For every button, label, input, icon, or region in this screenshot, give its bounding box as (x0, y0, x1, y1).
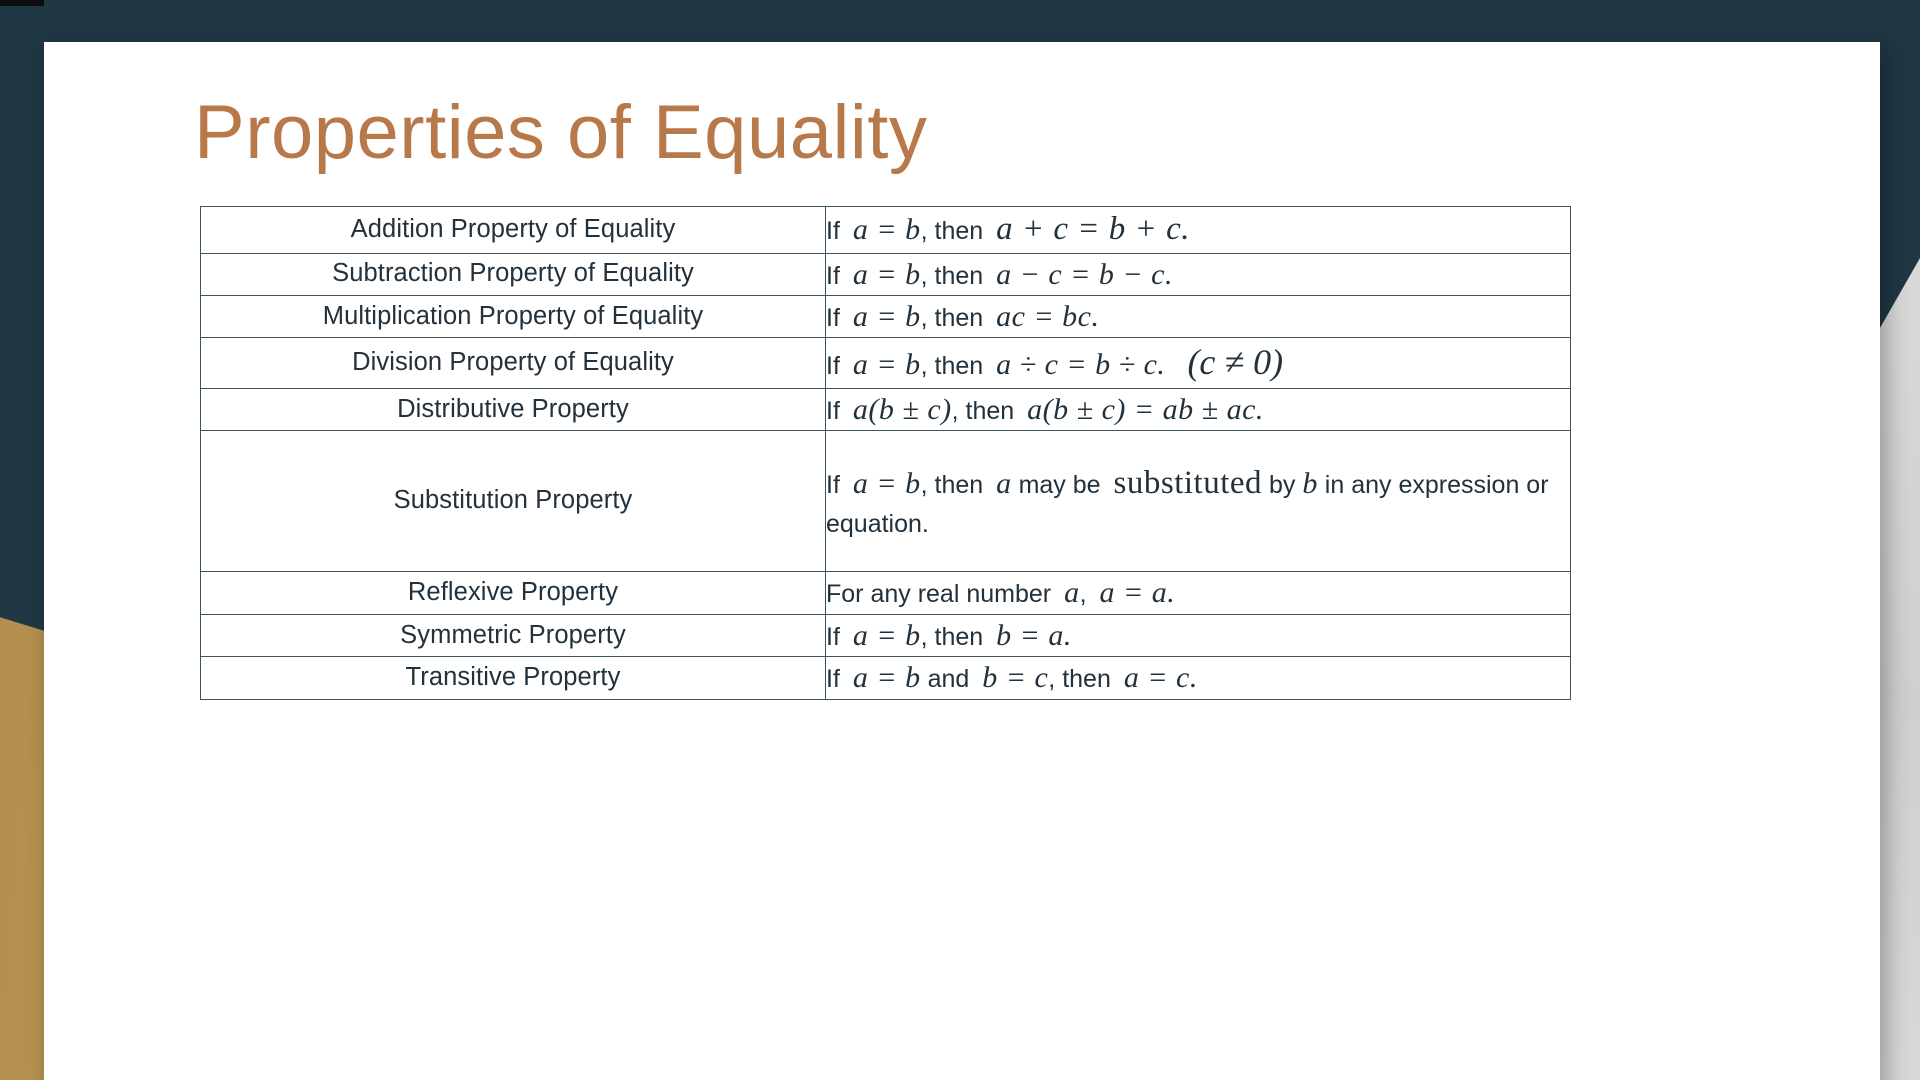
statement-condition-note: (c ≠ 0) (1187, 342, 1283, 382)
statement-result-math: a + c = b + c. (996, 211, 1190, 247)
statement-then-word: , then (921, 217, 984, 245)
statement-then-word: , then (921, 262, 984, 290)
statement-result-math: a − c = b − c. (996, 258, 1173, 291)
statement-if-word: If (826, 471, 840, 499)
statement-if-word: If (826, 304, 840, 332)
statement-result-math: a = a. (1099, 576, 1175, 609)
statement-condition-math: a = b (853, 300, 921, 333)
statement-then-word: , then (952, 397, 1015, 425)
statement-may-be-words: may be (1019, 471, 1101, 499)
statement-if-word: If (826, 262, 840, 290)
statement-result-math: a = c. (1124, 661, 1198, 694)
property-name-cell: Division Property of Equality (201, 338, 826, 389)
table-row[interactable]: Distributive Property If a(b ± c), then … (201, 388, 1571, 430)
property-name-cell: Substitution Property (201, 431, 826, 572)
table-row[interactable]: Substitution Property If a = b, then a m… (201, 431, 1571, 572)
property-name-cell: Subtraction Property of Equality (201, 253, 826, 295)
property-statement-cell: If a(b ± c), then a(b ± c) = ab ± ac. (826, 388, 1571, 430)
statement-condition-math: a = b (853, 619, 921, 652)
statement-if-word: If (826, 352, 840, 380)
table-row[interactable]: Symmetric Property If a = b, then b = a. (201, 614, 1571, 656)
property-name-cell: Transitive Property (201, 657, 826, 699)
statement-condition-math: a (1064, 576, 1080, 609)
statement-if-word: If (826, 397, 840, 425)
statement-result-math: ac = bc. (996, 300, 1099, 333)
table-row[interactable]: Reflexive Property For any real number a… (201, 572, 1571, 614)
statement-then-word: , then (921, 623, 984, 651)
property-statement-cell: If a = b, then a may be substituted by b… (826, 431, 1571, 572)
statement-condition-math: a = b (853, 213, 921, 246)
statement-if-word: If (826, 665, 840, 693)
statement-result-math: a ÷ c = b ÷ c. (996, 348, 1165, 381)
table-row[interactable]: Subtraction Property of Equality If a = … (201, 253, 1571, 295)
statement-substituted-word: substituted (1114, 465, 1263, 501)
table-row[interactable]: Multiplication Property of Equality If a… (201, 295, 1571, 337)
statement-condition-math-2: b = c (982, 661, 1048, 694)
statement-by-word: by (1269, 471, 1295, 499)
statement-and-word: and (928, 665, 970, 693)
slide-panel: Properties of Equality Addition Property… (44, 42, 1880, 1080)
table-row[interactable]: Transitive Property If a = b and b = c, … (201, 657, 1571, 699)
table-row[interactable]: Division Property of Equality If a = b, … (201, 338, 1571, 389)
property-statement-cell: If a = b, then a − c = b − c. (826, 253, 1571, 295)
statement-condition-math: a = b (853, 258, 921, 291)
property-statement-cell: If a = b, then a + c = b + c. (826, 207, 1571, 254)
property-name-cell: Distributive Property (201, 388, 826, 430)
top-left-accent-bar (0, 0, 44, 6)
statement-then-word: , then (921, 471, 984, 499)
properties-of-equality-table: Addition Property of Equality If a = b, … (200, 206, 1571, 700)
statement-substitution-var2: b (1302, 467, 1318, 500)
statement-if-word: If (826, 217, 840, 245)
page-title: Properties of Equality (194, 90, 927, 175)
statement-result-math: b = a. (996, 619, 1072, 652)
statement-then-word: , then (921, 304, 984, 332)
statement-if-word: For any real number (826, 580, 1051, 608)
property-name-cell: Addition Property of Equality (201, 207, 826, 254)
statement-condition-math: a = b (853, 661, 921, 694)
statement-then-word: , then (921, 352, 984, 380)
property-statement-cell: If a = b, then b = a. (826, 614, 1571, 656)
slide-canvas: Properties of Equality Addition Property… (0, 0, 1920, 1080)
statement-condition-math: a(b ± c) (853, 393, 952, 426)
table-row[interactable]: Addition Property of Equality If a = b, … (201, 207, 1571, 254)
property-name-cell: Symmetric Property (201, 614, 826, 656)
statement-condition-math: a = b (853, 348, 921, 381)
statement-substitution-var: a (996, 467, 1012, 500)
statement-then-word: , then (1048, 665, 1111, 693)
property-statement-cell: If a = b, then ac = bc. (826, 295, 1571, 337)
statement-if-word: If (826, 623, 840, 651)
statement-then-word: , (1080, 580, 1087, 608)
statement-condition-math: a = b (853, 467, 921, 500)
property-statement-cell: For any real number a, a = a. (826, 572, 1571, 614)
statement-result-math: a(b ± c) = ab ± ac. (1027, 393, 1264, 426)
property-name-cell: Reflexive Property (201, 572, 826, 614)
property-name-cell: Multiplication Property of Equality (201, 295, 826, 337)
property-statement-cell: If a = b and b = c, then a = c. (826, 657, 1571, 699)
property-statement-cell: If a = b, then a ÷ c = b ÷ c.(c ≠ 0) (826, 338, 1571, 389)
